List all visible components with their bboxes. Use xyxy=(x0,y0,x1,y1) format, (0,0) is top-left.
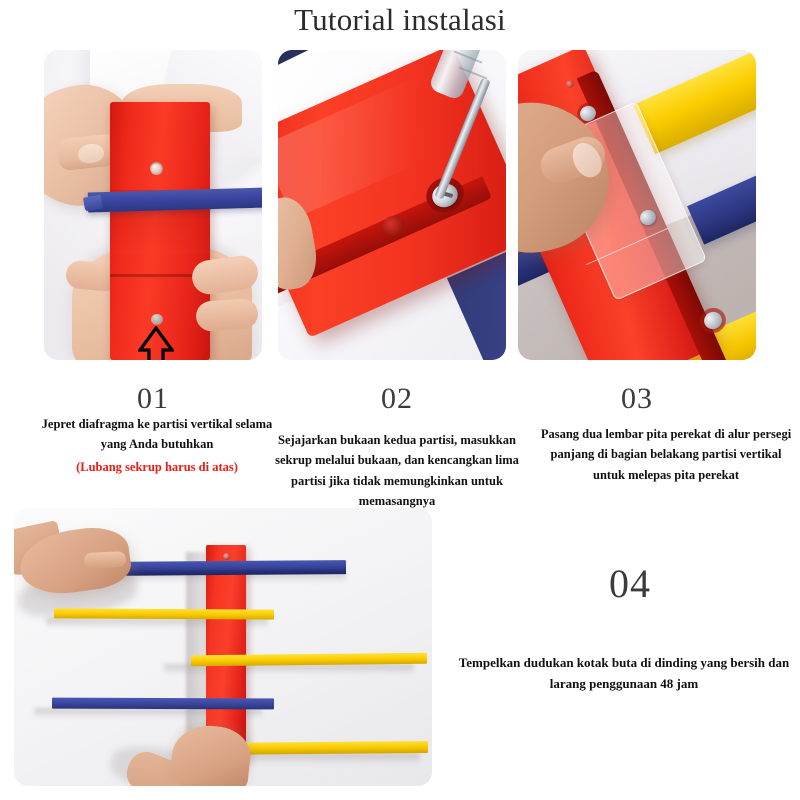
step-caption-02: Sejajarkan bukaan kedua partisi, masukka… xyxy=(262,430,532,511)
caption-warning-note: (Lubang sekrup harus di atas) xyxy=(34,457,280,477)
screw-hole-top xyxy=(150,162,163,175)
finger-upper xyxy=(84,551,127,569)
step-number-03: 03 xyxy=(518,382,756,416)
step-number-04: 04 xyxy=(560,560,700,607)
caption-text: Tempelkan dudukan kotak buta di dinding … xyxy=(459,655,789,691)
caption-text: Jepret diafragma ke partisi vertikal sel… xyxy=(42,417,273,451)
step-caption-03: Pasang dua lembar pita perekat di alur p… xyxy=(538,424,794,485)
yellow-slat-1 xyxy=(54,608,274,619)
step-caption-01: Jepret diafragma ke partisi vertikal sel… xyxy=(34,414,280,477)
step-4-photo xyxy=(14,508,432,786)
caption-text: Sejajarkan bukaan kedua partisi, masukka… xyxy=(275,433,519,508)
step-1-photo xyxy=(44,50,262,360)
arrow-up-icon xyxy=(138,326,174,360)
step-number-01: 01 xyxy=(44,382,262,416)
screw-hole-bottom xyxy=(151,314,163,325)
rail-hole-top xyxy=(223,553,230,560)
step-3-photo xyxy=(518,50,756,360)
step-2-photo xyxy=(278,50,506,360)
step-number-02: 02 xyxy=(288,382,506,416)
blue-slat-2 xyxy=(52,698,274,710)
page-title: Tutorial instalasi xyxy=(0,2,800,38)
step-caption-04: Tempelkan dudukan kotak buta di dinding … xyxy=(450,652,798,694)
tutorial-page: Tutorial instalasi xyxy=(0,0,800,800)
finger-lower-3 xyxy=(195,298,259,332)
caption-text: Pasang dua lembar pita perekat di alur p… xyxy=(541,427,791,482)
